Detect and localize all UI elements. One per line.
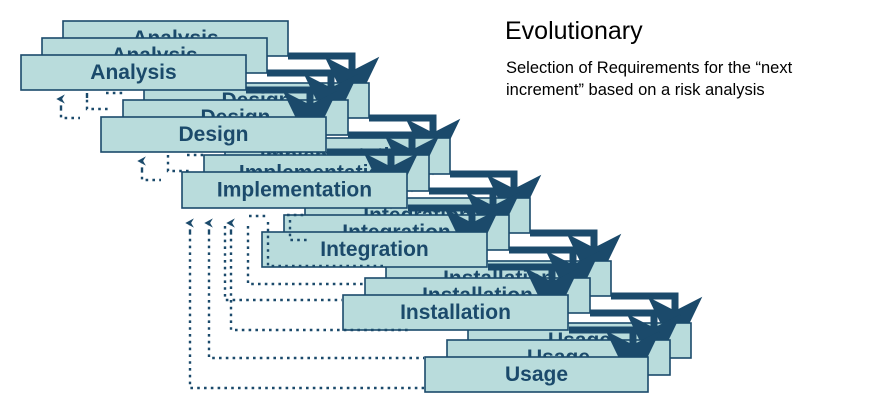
phase-box-implementation-front: Implementation	[182, 172, 407, 208]
phase-label-implementation-front: Implementation	[217, 179, 372, 202]
diagram-root: Analysis Design Implementation Integrati…	[0, 0, 881, 407]
phase-label-usage-front: Usage	[505, 363, 568, 386]
phase-label-installation-front: Installation	[400, 301, 511, 324]
phase-box-integration-front: Integration	[262, 232, 487, 267]
feedback-line-design-analysis-a	[61, 108, 80, 118]
phase-label-analysis-front: Analysis	[90, 61, 176, 84]
phase-box-analysis-front: Analysis	[21, 55, 246, 90]
phase-box-installation-front: Installation	[343, 295, 568, 330]
phase-box-design-front: Design	[101, 117, 326, 152]
feedback-line-impl-design-b	[168, 155, 189, 171]
feedback-line-impl-design-a	[142, 170, 161, 180]
feedback-line-design-analysis-b	[87, 93, 108, 109]
phase-label-integration-front: Integration	[320, 238, 429, 261]
annotation-title: Evolutionary	[505, 18, 643, 44]
annotation-body: Selection of Requirements for the “next …	[506, 57, 866, 102]
phase-label-design-front: Design	[178, 123, 248, 146]
phase-box-usage-front: Usage	[425, 357, 648, 392]
